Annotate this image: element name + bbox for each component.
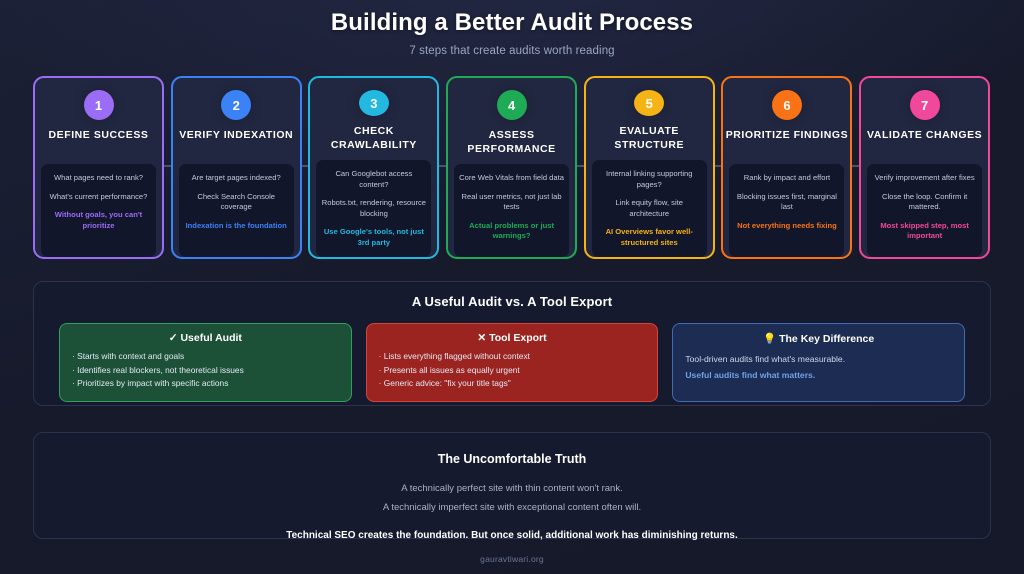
step-detail-line: Rank by impact and effort	[734, 173, 839, 184]
step-number-badge: 2	[221, 90, 251, 120]
step-detail-line: Close the loop. Confirm it mattered.	[872, 192, 977, 213]
step-number-badge: 7	[910, 90, 940, 120]
step-detail-line: What's current performance?	[46, 192, 151, 203]
useful-audit-box: ✓ Useful Audit · Starts with context and…	[59, 323, 352, 402]
step-detail-line: Most skipped step, most important	[872, 221, 977, 242]
step-card-2[interactable]: 2VERIFY INDEXATIONAre target pages index…	[171, 76, 302, 259]
step-detail-line: Robots.txt, rendering, resource blocking	[321, 198, 426, 219]
cross-icon: ✕	[477, 332, 486, 344]
key-difference-label: The Key Difference	[779, 333, 874, 345]
comparison-heading: A Useful Audit vs. A Tool Export	[34, 282, 990, 309]
step-detail-box: Internal linking supporting pages?Link e…	[592, 160, 707, 257]
step-card-wrapper: 3CHECK CRAWLABILITYCan Googlebot access …	[305, 76, 443, 259]
tool-export-title: ✕ Tool Export	[379, 332, 646, 344]
key-difference-title: 💡 The Key Difference	[685, 332, 952, 345]
step-detail-box: Core Web Vitals from field dataReal user…	[454, 164, 569, 257]
steps-row: 1DEFINE SUCCESSWhat pages need to rank?W…	[30, 76, 994, 259]
step-detail-line: AI Overviews favor well-structured sites	[597, 227, 702, 248]
step-detail-line: Can Googlebot access content?	[321, 169, 426, 190]
step-detail-line: Not everything needs fixing	[734, 221, 839, 232]
step-detail-line: Blocking issues first, marginal last	[734, 192, 839, 213]
step-detail-box: Verify improvement after fixesClose the …	[867, 164, 982, 257]
key-difference-line-2: Useful audits find what matters.	[685, 367, 952, 383]
step-number-badge: 5	[634, 90, 664, 116]
key-difference-line-1: Tool-driven audits find what's measurabl…	[685, 351, 952, 367]
step-title: PRIORITIZE FINDINGS	[726, 129, 848, 156]
step-card-4[interactable]: 4ASSESS PERFORMANCECore Web Vitals from …	[446, 76, 577, 259]
step-detail-line: Internal linking supporting pages?	[597, 169, 702, 190]
step-detail-line: Check Search Console coverage	[184, 192, 289, 213]
step-title: DEFINE SUCCESS	[49, 129, 149, 156]
step-number-badge: 4	[497, 90, 527, 120]
step-title: EVALUATE STRUCTURE	[586, 125, 713, 152]
step-card-5[interactable]: 5EVALUATE STRUCTUREInternal linking supp…	[584, 76, 715, 259]
truth-line-1: A technically perfect site with thin con…	[34, 481, 990, 497]
lightbulb-icon: 💡	[763, 333, 776, 345]
step-detail-line: Use Google's tools, not just 3rd party	[321, 227, 426, 248]
list-item: · Presents all issues as equally urgent	[379, 364, 646, 378]
step-detail-line: Are target pages indexed?	[184, 173, 289, 184]
step-card-wrapper: 5EVALUATE STRUCTUREInternal linking supp…	[581, 76, 719, 259]
list-item: · Identifies real blockers, not theoreti…	[72, 364, 339, 378]
step-title: VALIDATE CHANGES	[867, 129, 982, 156]
tool-export-box: ✕ Tool Export · Lists everything flagged…	[366, 323, 659, 402]
step-detail-line: Indexation is the foundation	[184, 221, 289, 232]
key-difference-box: 💡 The Key Difference Tool-driven audits …	[672, 323, 965, 402]
uncomfortable-truth-panel: The Uncomfortable Truth A technically pe…	[33, 432, 991, 539]
step-detail-line: Link equity flow, site architecture	[597, 198, 702, 219]
step-detail-box: Rank by impact and effortBlocking issues…	[729, 164, 844, 257]
step-number-badge: 6	[772, 90, 802, 120]
page-subtitle: 7 steps that create audits worth reading	[0, 45, 1024, 57]
check-icon: ✓	[169, 332, 178, 344]
step-card-wrapper: 7VALIDATE CHANGESVerify improvement afte…	[856, 76, 994, 259]
step-card-1[interactable]: 1DEFINE SUCCESSWhat pages need to rank?W…	[33, 76, 164, 259]
step-detail-box: What pages need to rank?What's current p…	[41, 164, 156, 257]
step-card-wrapper: 1DEFINE SUCCESSWhat pages need to rank?W…	[30, 76, 168, 259]
truth-line-2: A technically imperfect site with except…	[34, 500, 990, 516]
step-card-wrapper: 2VERIFY INDEXATIONAre target pages index…	[168, 76, 306, 259]
list-item: · Generic advice: "fix your title tags"	[379, 377, 646, 391]
truth-title: The Uncomfortable Truth	[34, 433, 990, 466]
footer-credit: gauravtiwari.org	[0, 554, 1024, 564]
list-item: · Starts with context and goals	[72, 350, 339, 364]
comparison-panel: A Useful Audit vs. A Tool Export ✓ Usefu…	[33, 281, 991, 406]
step-card-7[interactable]: 7VALIDATE CHANGESVerify improvement afte…	[859, 76, 990, 259]
step-card-6[interactable]: 6PRIORITIZE FINDINGSRank by impact and e…	[721, 76, 852, 259]
step-detail-line: Real user metrics, not just lab tests	[459, 192, 564, 213]
step-detail-line: Actual problems or just warnings?	[459, 221, 564, 242]
tool-export-label: Tool Export	[489, 332, 547, 344]
step-card-3[interactable]: 3CHECK CRAWLABILITYCan Googlebot access …	[308, 76, 439, 259]
step-detail-box: Are target pages indexed?Check Search Co…	[179, 164, 294, 257]
comparison-row: ✓ Useful Audit · Starts with context and…	[34, 309, 990, 402]
step-title: CHECK CRAWLABILITY	[310, 125, 437, 152]
list-item: · Lists everything flagged without conte…	[379, 350, 646, 364]
page-title: Building a Better Audit Process	[0, 9, 1024, 37]
list-item: · Prioritizes by impact with specific ac…	[72, 377, 339, 391]
step-detail-line: Core Web Vitals from field data	[459, 173, 564, 184]
truth-conclusion: Technical SEO creates the foundation. Bu…	[34, 530, 990, 541]
step-card-wrapper: 6PRIORITIZE FINDINGSRank by impact and e…	[718, 76, 856, 259]
step-detail-box: Can Googlebot access content?Robots.txt,…	[316, 160, 431, 257]
useful-audit-label: Useful Audit	[180, 332, 241, 344]
page-header: Building a Better Audit Process 7 steps …	[0, 0, 1024, 57]
step-detail-line: What pages need to rank?	[46, 173, 151, 184]
step-detail-line: Without goals, you can't prioritize	[46, 210, 151, 231]
step-detail-line: Verify improvement after fixes	[872, 173, 977, 184]
step-title: ASSESS PERFORMANCE	[448, 129, 575, 156]
step-number-badge: 1	[84, 90, 114, 120]
step-title: VERIFY INDEXATION	[179, 129, 293, 156]
step-card-wrapper: 4ASSESS PERFORMANCECore Web Vitals from …	[443, 76, 581, 259]
step-number-badge: 3	[359, 90, 389, 116]
useful-audit-title: ✓ Useful Audit	[72, 332, 339, 344]
